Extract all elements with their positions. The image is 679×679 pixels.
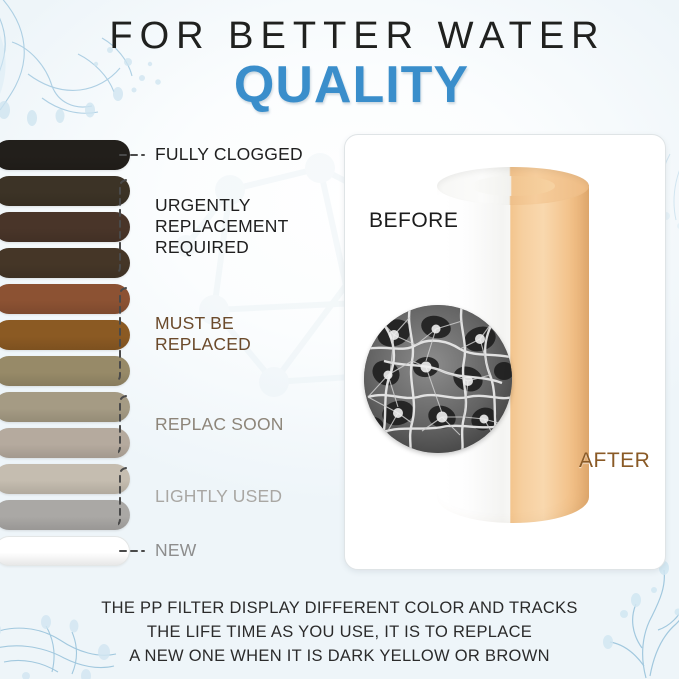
pp-fiber-micrograph xyxy=(364,305,512,453)
infographic-page: FOR BETTER WATER QUALITY FULLY CLOGGEDUR… xyxy=(0,0,679,679)
legend-label-2: MUST BE REPLACED xyxy=(155,313,251,355)
legend-labels: FULLY CLOGGEDURGENTLY REPLACEMENT REQUIR… xyxy=(155,140,370,580)
bracket-group-3 xyxy=(118,396,126,454)
legend-label-5: NEW xyxy=(155,540,196,561)
legend-label-3: REPLAC SOON xyxy=(155,414,284,435)
legend-label-4: LIGHTLY USED xyxy=(155,486,282,507)
bracket-group-4 xyxy=(118,468,126,526)
filter-comparison-card: BEFORE AFTER xyxy=(344,134,666,570)
swatch-lightly-used-2 xyxy=(0,500,130,530)
swatch-must-replace-2 xyxy=(0,320,130,350)
swatch-urgent-1 xyxy=(0,176,130,206)
swatch-replace-soon-1 xyxy=(0,392,130,422)
swatch-lightly-used-1 xyxy=(0,464,130,494)
legend-label-1: URGENTLY REPLACEMENT REQUIRED xyxy=(155,195,288,258)
bracket-group-2 xyxy=(118,288,126,382)
page-title: FOR BETTER WATER xyxy=(0,14,679,58)
label-after: AFTER xyxy=(579,449,650,473)
group-brackets xyxy=(118,140,154,570)
swatch-replace-soon-2 xyxy=(0,428,130,458)
page-subtitle: QUALITY xyxy=(0,56,679,114)
swatch-urgent-3 xyxy=(0,248,130,278)
label-before: BEFORE xyxy=(369,209,458,233)
color-swatch-scale xyxy=(0,140,130,572)
header: FOR BETTER WATER QUALITY xyxy=(0,0,679,120)
swatch-must-replace-1 xyxy=(0,284,130,314)
footer-caption: THE PP FILTER DISPLAY DIFFERENT COLOR AN… xyxy=(0,596,679,668)
swatch-must-replace-3 xyxy=(0,356,130,386)
swatch-new-1 xyxy=(0,536,130,566)
bracket-group-1 xyxy=(118,180,126,274)
legend-label-0: FULLY CLOGGED xyxy=(155,144,303,165)
filter-top-inner-ellipse xyxy=(471,176,555,196)
swatch-urgent-2 xyxy=(0,212,130,242)
swatch-fully-clogged-1 xyxy=(0,140,130,170)
